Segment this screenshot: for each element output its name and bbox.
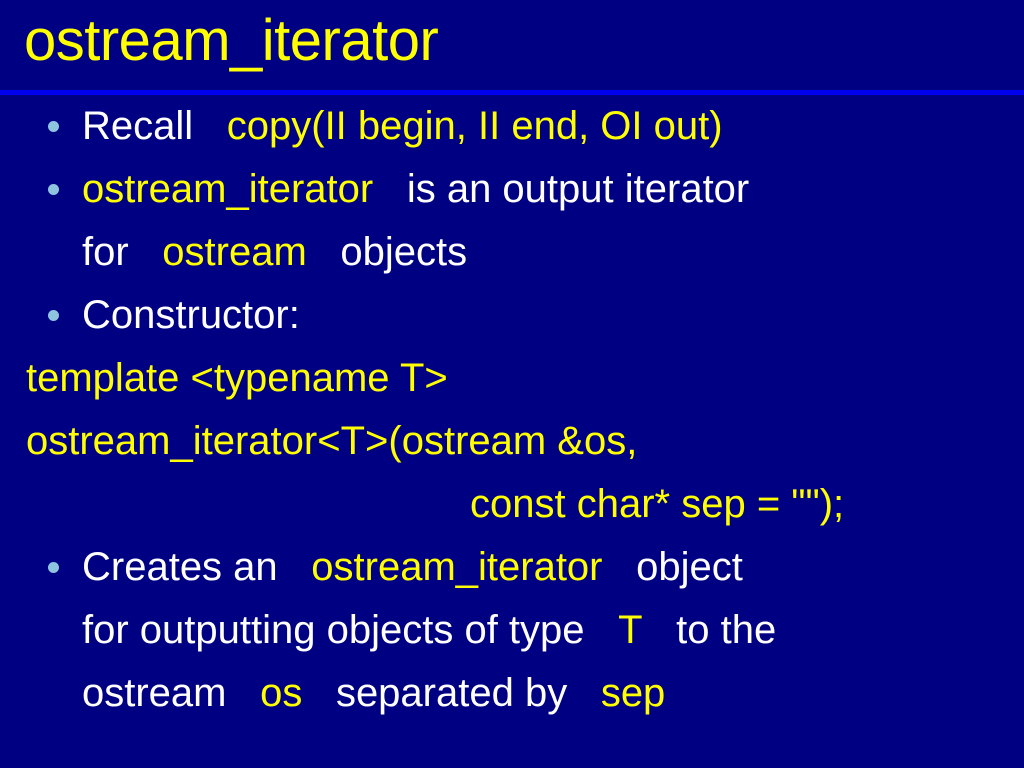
bullet-text-segment: for outputting objects of type — [82, 608, 585, 652]
bullet-code-segment: ostream_iterator — [82, 167, 373, 211]
bullet-continuation-line: ostreamosseparated bysep — [0, 662, 1024, 725]
bullet-continuation-line: forostreamobjects — [0, 221, 1024, 284]
bullet-text-segment: for — [82, 230, 129, 274]
bullet-dot-icon — [48, 184, 59, 195]
bullet-text-segment: object — [636, 545, 743, 589]
bullet-item: Recallcopy(II begin, II end, OI out) — [0, 95, 1024, 158]
bullet-text-segment: ostream — [82, 671, 227, 715]
page-title: ostream_iterator — [24, 6, 438, 76]
bullet-text-segment: separated by — [336, 671, 567, 715]
bullet-text-segment: Constructor: — [82, 293, 300, 337]
bullet-text-segment: Creates an — [82, 545, 278, 589]
bullet-item: ostream_iteratoris an output iterator — [0, 158, 1024, 221]
bullet-code-segment: copy(II begin, II end, OI out) — [227, 104, 723, 148]
bullet-text-segment: objects — [340, 230, 467, 274]
bullet-code-segment: ostream_iterator — [311, 545, 602, 589]
bullet-item: Creates anostream_iteratorobject — [0, 536, 1024, 599]
bullet-text-segment: Recall — [82, 104, 193, 148]
bullet-code-segment: ostream — [162, 230, 307, 274]
code-line: ostream_iterator<T>(ostream &os, — [0, 410, 1024, 473]
bullet-dot-icon — [48, 310, 59, 321]
bullet-text-segment: is an output iterator — [407, 167, 749, 211]
slide-body: Recallcopy(II begin, II end, OI out) ost… — [0, 95, 1024, 725]
bullet-continuation-line: for outputting objects of typeTto the — [0, 599, 1024, 662]
bullet-dot-icon — [48, 121, 59, 132]
title-area: ostream_iterator — [0, 0, 1024, 91]
bullet-code-segment: T — [618, 608, 642, 652]
bullet-code-segment: sep — [601, 671, 666, 715]
slide-canvas: ostream_iterator Recallcopy(II begin, II… — [0, 0, 1024, 768]
code-line: const char* sep = ""); — [0, 473, 1024, 536]
bullet-dot-icon — [48, 562, 59, 573]
bullet-code-segment: os — [260, 671, 302, 715]
bullet-text-segment: to the — [676, 608, 776, 652]
bullet-item: Constructor: — [0, 284, 1024, 347]
code-line: template <typename T> — [0, 347, 1024, 410]
